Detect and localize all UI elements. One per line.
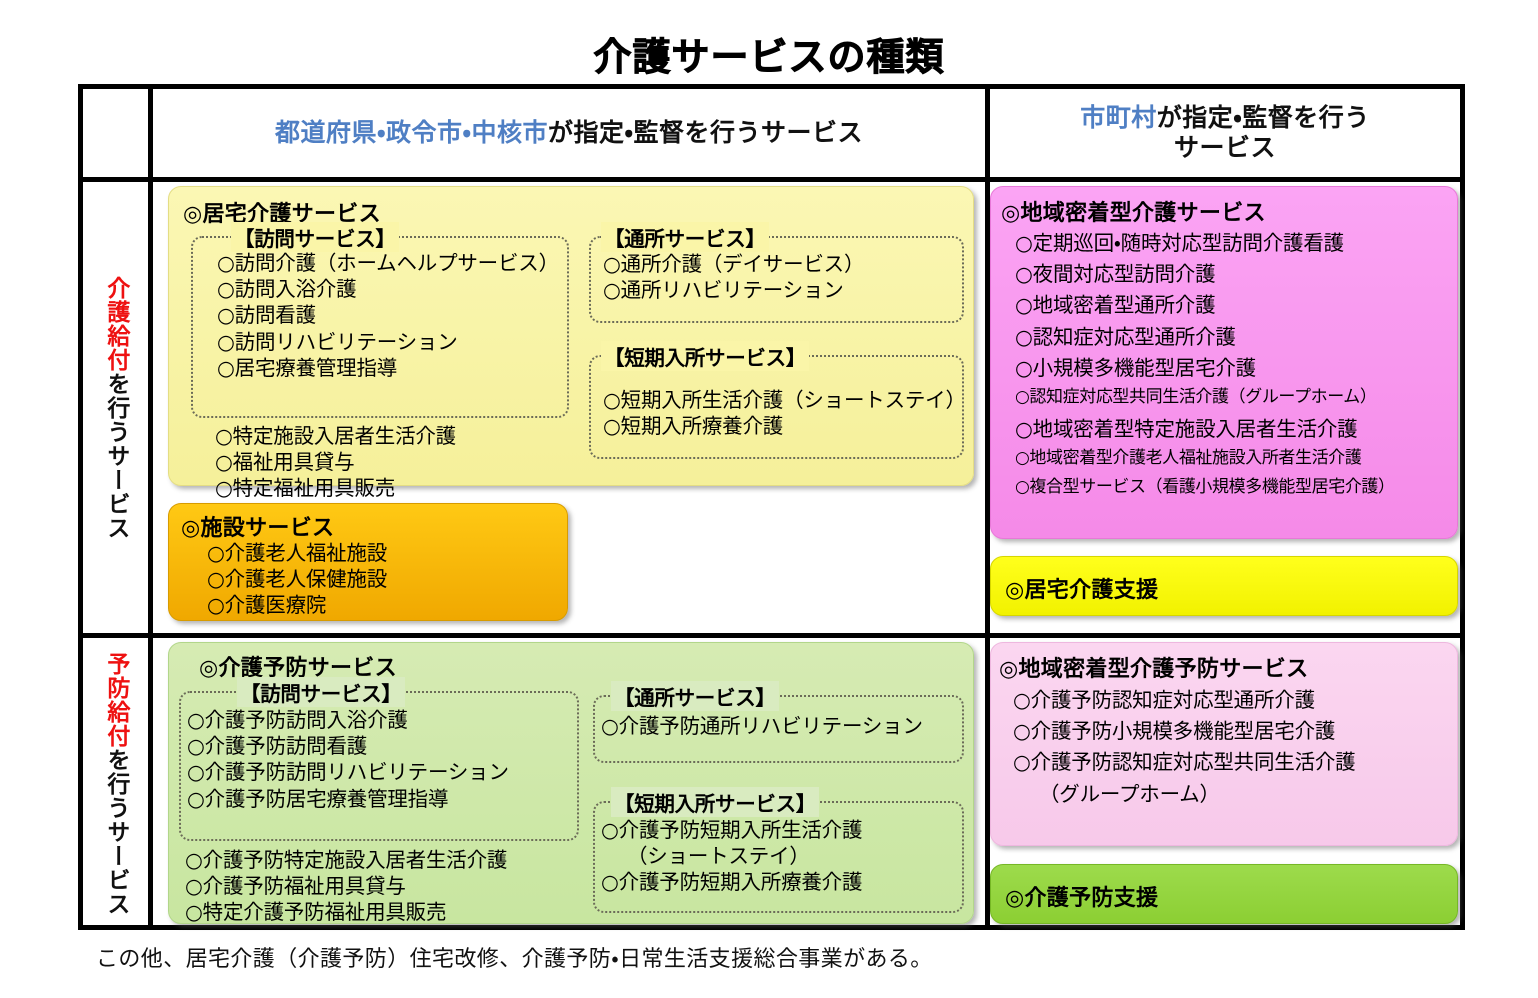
list-item: ○介護予防短期入所生活介護 — [601, 817, 862, 843]
subgroup-prev-visit-label: 【訪問サービス】 — [237, 677, 405, 707]
panel-prevention-support-title: ◎介護予防支援 — [1005, 880, 1158, 912]
list-item: （ショートステイ） — [601, 843, 862, 869]
side-label-benefit: 介護給付を行うサービス — [83, 182, 148, 633]
row-divider-header — [83, 177, 1460, 182]
list-item: ○介護老人福祉施設 — [207, 540, 387, 566]
panel-facility-title: ◎施設サービス — [181, 510, 334, 542]
list-item: ○認知症対応型通所介護 — [1015, 324, 1395, 350]
list-item: ○介護予防通所リハビリテーション — [601, 713, 923, 739]
list-item: ○介護老人保健施設 — [207, 566, 387, 592]
footer-note: この他、居宅介護（介護予防）住宅改修、介護予防・日常生活支援総合事業がある。 — [96, 941, 933, 973]
list-item: ○短期入所療養介護 — [603, 413, 966, 439]
list-item: ○介護医療院 — [207, 592, 387, 618]
services-matrix: 都道府県・政令市・中核市が指定・監督を行うサービス 市町村が指定・監督を行う サ… — [78, 84, 1465, 930]
row-divider-middle — [83, 633, 1460, 638]
panel-prevention-support: ◎介護予防支援 — [990, 864, 1458, 924]
list-item: ○介護予防居宅療養管理指導 — [187, 786, 509, 812]
header-municipality-rest: が指定・監督を行う — [1157, 103, 1370, 132]
subgroup-prev-day-label: 【通所サービス】 — [611, 681, 779, 711]
side-label-prevention-rest: を行うサービス — [103, 748, 129, 916]
list-item: ○訪問リハビリテーション — [217, 329, 559, 355]
list-item: ○介護予防認知症対応型共同生活介護 — [1013, 749, 1356, 775]
header-prefecture-rest: が指定・監督を行うサービス — [548, 118, 863, 147]
list-item: ○訪問入浴介護 — [217, 276, 559, 302]
page-title: 介護サービスの種類 — [0, 26, 1538, 81]
list-item: ○介護予防認知症対応型通所介護 — [1013, 687, 1356, 713]
subgroup-home-short-label: 【短期入所サービス】 — [601, 341, 809, 371]
list-item: ○福祉用具貸与 — [215, 449, 456, 475]
panel-community-prevention: ◎地域密着型介護予防サービス ○介護予防認知症対応型通所介護 ○介護予防小規模多… — [990, 642, 1458, 846]
header-prefecture-accent: 都道府県・政令市・中核市 — [275, 118, 548, 147]
list-item: ○訪問看護 — [217, 302, 559, 328]
list-item: ○介護予防福祉用具貸与 — [185, 873, 507, 899]
panel-community-prevention-title: ◎地域密着型介護予防サービス — [999, 651, 1308, 683]
header-municipality-rest2: サービス — [1174, 133, 1276, 162]
panel-prevention-services: ◎介護予防サービス 【訪問サービス】 ○介護予防訪問入浴介護 ○介護予防訪問看護… — [168, 642, 974, 924]
panel-community-title: ◎地域密着型介護サービス — [1001, 195, 1266, 227]
list-item: ○地域密着型特定施設入居者生活介護 — [1015, 416, 1395, 442]
panel-care-support-title: ◎居宅介護支援 — [1005, 572, 1158, 604]
header-prefecture-cell: 都道府県・政令市・中核市が指定・監督を行うサービス — [153, 89, 985, 177]
subgroup-home-day-label: 【通所サービス】 — [601, 222, 769, 252]
list-item: ○通所リハビリテーション — [603, 277, 864, 303]
list-item: ○地域密着型通所介護 — [1015, 292, 1395, 318]
list-item: ○小規模多機能型居宅介護 — [1015, 355, 1395, 381]
list-item: ○認知症対応型共同生活介護（グループホーム） — [1015, 387, 1395, 409]
list-item: ○居宅療養管理指導 — [217, 355, 559, 381]
subgroup-home-visit: 【訪問サービス】 ○訪問介護（ホームヘルプサービス） ○訪問入浴介護 ○訪問看護… — [191, 236, 569, 418]
list-item: ○介護予防小規模多機能型居宅介護 — [1013, 718, 1356, 744]
header-municipality-cell: 市町村が指定・監督を行う サービス — [990, 89, 1460, 177]
list-item: ○定期巡回・随時対応型訪問介護看護 — [1015, 230, 1395, 256]
list-item: ○複合型サービス（看護小規模多機能型居宅介護） — [1015, 477, 1395, 499]
panel-community-based-care: ◎地域密着型介護サービス ○定期巡回・随時対応型訪問介護看護 ○夜間対応型訪問介… — [990, 186, 1458, 539]
list-item: ○特定福祉用具販売 — [215, 475, 456, 501]
header-municipality-accent: 市町村 — [1080, 103, 1157, 132]
list-item: （グループホーム） — [1013, 781, 1356, 807]
list-item: ○介護予防短期入所療養介護 — [601, 869, 862, 895]
side-label-benefit-rest: を行うサービス — [103, 372, 129, 540]
panel-facility-services: ◎施設サービス ○介護老人福祉施設 ○介護老人保健施設 ○介護医療院 — [168, 503, 568, 621]
list-item: ○訪問介護（ホームヘルプサービス） — [217, 250, 559, 276]
list-item: ○介護予防特定施設入居者生活介護 — [185, 847, 507, 873]
list-item: ○介護予防訪問リハビリテーション — [187, 759, 509, 785]
subgroup-prev-short: 【短期入所サービス】 ○介護予防短期入所生活介護 （ショートステイ） ○介護予防… — [593, 801, 964, 913]
list-item: ○特定介護予防福祉用具販売 — [185, 899, 507, 925]
side-label-prevention-accent: 予防給付 — [103, 652, 129, 748]
panel-home-care: ◎居宅介護サービス 【訪問サービス】 ○訪問介護（ホームヘルプサービス） ○訪問… — [168, 186, 974, 486]
subgroup-prev-short-label: 【短期入所サービス】 — [611, 787, 819, 817]
list-item: ○通所介護（デイサービス） — [603, 251, 864, 277]
list-item: ○特定施設入居者生活介護 — [215, 423, 456, 449]
side-label-prevention: 予防給付を行うサービス — [83, 638, 148, 930]
subgroup-home-day: 【通所サービス】 ○通所介護（デイサービス） ○通所リハビリテーション — [589, 236, 964, 323]
subgroup-prev-visit: 【訪問サービス】 ○介護予防訪問入浴介護 ○介護予防訪問看護 ○介護予防訪問リハ… — [179, 691, 579, 841]
subgroup-home-short: 【短期入所サービス】 ○短期入所生活介護（ショートステイ） ○短期入所療養介護 — [589, 355, 964, 459]
column-divider-label — [148, 89, 153, 925]
list-item: ○介護予防訪問入浴介護 — [187, 707, 509, 733]
list-item: ○介護予防訪問看護 — [187, 733, 509, 759]
subgroup-home-visit-label: 【訪問サービス】 — [231, 222, 399, 252]
subgroup-prev-day: 【通所サービス】 ○介護予防通所リハビリテーション — [593, 695, 964, 763]
list-item: ○夜間対応型訪問介護 — [1015, 261, 1395, 287]
side-label-benefit-accent: 介護給付 — [103, 276, 129, 372]
list-item: ○地域密着型介護老人福祉施設入所者生活介護 — [1015, 448, 1395, 470]
list-item: ○短期入所生活介護（ショートステイ） — [603, 387, 966, 413]
panel-care-support: ◎居宅介護支援 — [990, 556, 1458, 616]
